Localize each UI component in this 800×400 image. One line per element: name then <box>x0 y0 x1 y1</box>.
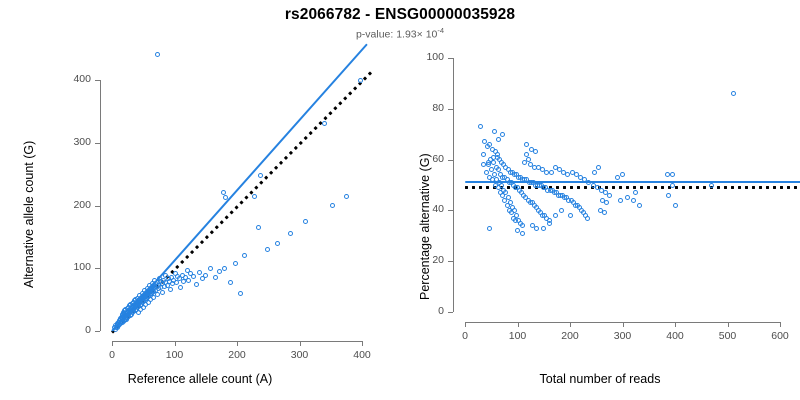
data-point <box>513 218 518 223</box>
reference-line-dash <box>220 220 224 224</box>
reference-line-dash <box>338 101 342 105</box>
data-point <box>203 273 208 278</box>
reference-line-dash <box>333 106 337 110</box>
left-scatter-panel: 01002003004000100200300400Alternative al… <box>0 0 400 400</box>
reference-line-dash <box>556 186 559 189</box>
reference-line-dash <box>294 146 298 150</box>
data-point <box>155 292 160 297</box>
reference-line-dash <box>619 186 622 189</box>
data-point <box>500 132 505 137</box>
reference-line-dash <box>269 171 273 175</box>
reference-line-dash <box>675 186 678 189</box>
x-tick-label: 300 <box>593 330 653 342</box>
reference-line-dash <box>259 181 263 185</box>
data-point <box>615 175 620 180</box>
reference-line-dash <box>205 235 209 239</box>
data-point <box>486 160 491 165</box>
reference-line-dash <box>759 186 762 189</box>
reference-line-dash <box>328 111 332 115</box>
reference-line-dash <box>563 186 566 189</box>
x-tick-mark <box>518 322 519 327</box>
reference-line-dash <box>465 186 468 189</box>
reference-line-dash <box>279 161 283 165</box>
scatter-plot-figure: rs2066782 - ENSG00000035928 p-value: 1.9… <box>0 0 800 400</box>
data-point <box>222 266 227 271</box>
reference-line-dash <box>696 186 699 189</box>
reference-line-dash <box>215 225 219 229</box>
data-point <box>604 200 609 205</box>
data-point <box>242 253 247 258</box>
x-tick-mark <box>237 341 238 346</box>
x-tick-mark <box>623 322 624 327</box>
data-point <box>194 282 199 287</box>
reference-line-dash <box>752 186 755 189</box>
data-point <box>618 198 623 203</box>
x-tick-label: 400 <box>332 349 392 361</box>
data-point <box>358 78 363 83</box>
data-point <box>197 270 202 275</box>
reference-line-dash <box>239 200 243 204</box>
reference-line-dash <box>780 186 783 189</box>
data-point <box>520 223 525 228</box>
data-point <box>607 193 612 198</box>
reference-line-dash <box>323 116 327 120</box>
reference-line-dash <box>766 186 769 189</box>
x-tick-label: 200 <box>540 330 600 342</box>
data-point <box>491 160 496 165</box>
reference-line-dash <box>343 96 347 100</box>
data-point <box>233 261 238 266</box>
data-point <box>602 210 607 215</box>
data-point <box>330 203 335 208</box>
data-point <box>160 290 165 295</box>
data-point <box>217 269 222 274</box>
reference-line-dash <box>528 186 531 189</box>
reference-line-dash <box>195 245 199 249</box>
data-point <box>553 213 558 218</box>
data-point <box>303 219 308 224</box>
data-point <box>191 274 196 279</box>
reference-line-dash <box>612 186 615 189</box>
data-point <box>585 216 590 221</box>
reference-line-dash <box>472 186 475 189</box>
reference-line-dash <box>647 186 650 189</box>
data-point <box>288 231 293 236</box>
data-point <box>665 172 670 177</box>
data-point <box>520 231 525 236</box>
x-tick-mark <box>362 341 363 346</box>
data-point <box>168 287 173 292</box>
reference-line-dash <box>254 185 258 189</box>
reference-line-dash <box>284 156 288 160</box>
reference-line-dash <box>185 255 189 259</box>
reference-line-dash <box>703 186 706 189</box>
data-point <box>238 291 243 296</box>
data-point <box>631 198 636 203</box>
reference-line-dash <box>717 186 720 189</box>
reference-line-dash <box>640 186 643 189</box>
reference-line-dash <box>633 186 636 189</box>
data-point <box>344 194 349 199</box>
data-point <box>731 91 736 96</box>
data-point <box>709 183 714 188</box>
reference-line-dash <box>570 186 573 189</box>
reference-line-dash <box>175 265 179 269</box>
x-tick-mark <box>300 341 301 346</box>
data-point <box>637 203 642 208</box>
data-point <box>547 221 552 226</box>
data-point <box>258 173 263 178</box>
x-tick-mark <box>175 341 176 346</box>
data-point <box>186 278 191 283</box>
data-point <box>155 52 160 57</box>
data-point <box>502 198 507 203</box>
data-point <box>666 193 671 198</box>
reference-line-dash <box>773 186 776 189</box>
reference-line-dash <box>225 215 229 219</box>
x-tick-mark <box>570 322 571 327</box>
reference-line-dash <box>244 195 248 199</box>
data-point <box>509 210 514 215</box>
x-tick-label: 0 <box>82 349 142 361</box>
reference-line-dash <box>731 186 734 189</box>
data-point <box>568 213 573 218</box>
reference-line-dash <box>200 240 204 244</box>
x-tick-label: 300 <box>270 349 330 361</box>
data-point <box>256 225 261 230</box>
data-point <box>322 121 327 126</box>
data-point <box>549 170 554 175</box>
reference-line-dash <box>274 166 278 170</box>
reference-line-dash <box>229 210 233 214</box>
right-scatter-panel: 0100200300400500600020406080100Percentag… <box>400 0 800 400</box>
x-tick-label: 0 <box>435 330 495 342</box>
reference-line-dash <box>787 186 790 189</box>
reference-line-dash <box>689 186 692 189</box>
data-point <box>673 203 678 208</box>
data-point <box>559 208 564 213</box>
reference-line-dash <box>299 141 303 145</box>
reference-line-dash <box>309 131 313 135</box>
data-point <box>213 275 218 280</box>
data-point <box>208 266 213 271</box>
reference-line-dash <box>264 176 268 180</box>
reference-line-dash <box>738 186 741 189</box>
reference-line-dash <box>304 136 308 140</box>
data-point <box>178 285 183 290</box>
reference-line-dash <box>368 71 372 75</box>
data-point <box>670 183 675 188</box>
data-point <box>228 280 233 285</box>
x-tick-label: 500 <box>698 330 758 342</box>
x-tick-label: 100 <box>145 349 205 361</box>
reference-line-dash <box>507 186 510 189</box>
reference-line-dash <box>724 186 727 189</box>
x-tick-label: 600 <box>750 330 800 342</box>
reference-line-dash <box>682 186 685 189</box>
x-tick-mark <box>465 322 466 327</box>
data-point <box>592 170 597 175</box>
data-point <box>484 170 489 175</box>
reference-line-dash <box>210 230 214 234</box>
data-point <box>596 165 601 170</box>
reference-line-dash <box>348 91 352 95</box>
data-point <box>275 241 280 246</box>
data-point <box>478 124 483 129</box>
reference-line-dash <box>234 205 238 209</box>
data-point <box>625 195 630 200</box>
x-tick-label: 100 <box>488 330 548 342</box>
data-point <box>481 152 486 157</box>
reference-line-dash <box>661 186 664 189</box>
x-tick-mark <box>728 322 729 327</box>
data-point <box>524 142 529 147</box>
x-axis-title: Total number of reads <box>400 372 800 386</box>
reference-line-dash <box>486 186 489 189</box>
x-tick-mark <box>112 341 113 346</box>
reference-line-dash <box>745 186 748 189</box>
data-point <box>252 194 257 199</box>
plot-area <box>400 40 800 316</box>
reference-line-dash <box>190 250 194 254</box>
data-point <box>541 226 546 231</box>
x-tick-mark <box>780 322 781 327</box>
reference-line-dash <box>605 186 608 189</box>
x-tick-label: 200 <box>207 349 267 361</box>
data-point <box>496 137 501 142</box>
data-point <box>515 228 520 233</box>
data-point <box>265 247 270 252</box>
data-point <box>500 193 505 198</box>
data-point <box>487 226 492 231</box>
x-tick-label: 400 <box>645 330 705 342</box>
reference-line-dash <box>180 260 184 264</box>
x-tick-mark <box>675 322 676 327</box>
data-point <box>534 226 539 231</box>
reference-line-dash <box>584 186 587 189</box>
plot-area <box>0 40 400 335</box>
reference-line-dash <box>289 151 293 155</box>
data-point <box>492 129 497 134</box>
reference-line-dash <box>363 76 367 80</box>
data-point <box>633 190 638 195</box>
reference-line-dash <box>654 186 657 189</box>
reference-line-dash <box>313 126 317 130</box>
reference-line-dash <box>353 86 357 90</box>
data-point <box>670 172 675 177</box>
reference-line-dash <box>577 186 580 189</box>
reference-line-dash <box>794 186 797 189</box>
data-point <box>533 149 538 154</box>
reference-line-dash <box>626 186 629 189</box>
reference-line-dash <box>479 186 482 189</box>
x-axis-title: Reference allele count (A) <box>0 372 400 386</box>
data-point <box>620 172 625 177</box>
